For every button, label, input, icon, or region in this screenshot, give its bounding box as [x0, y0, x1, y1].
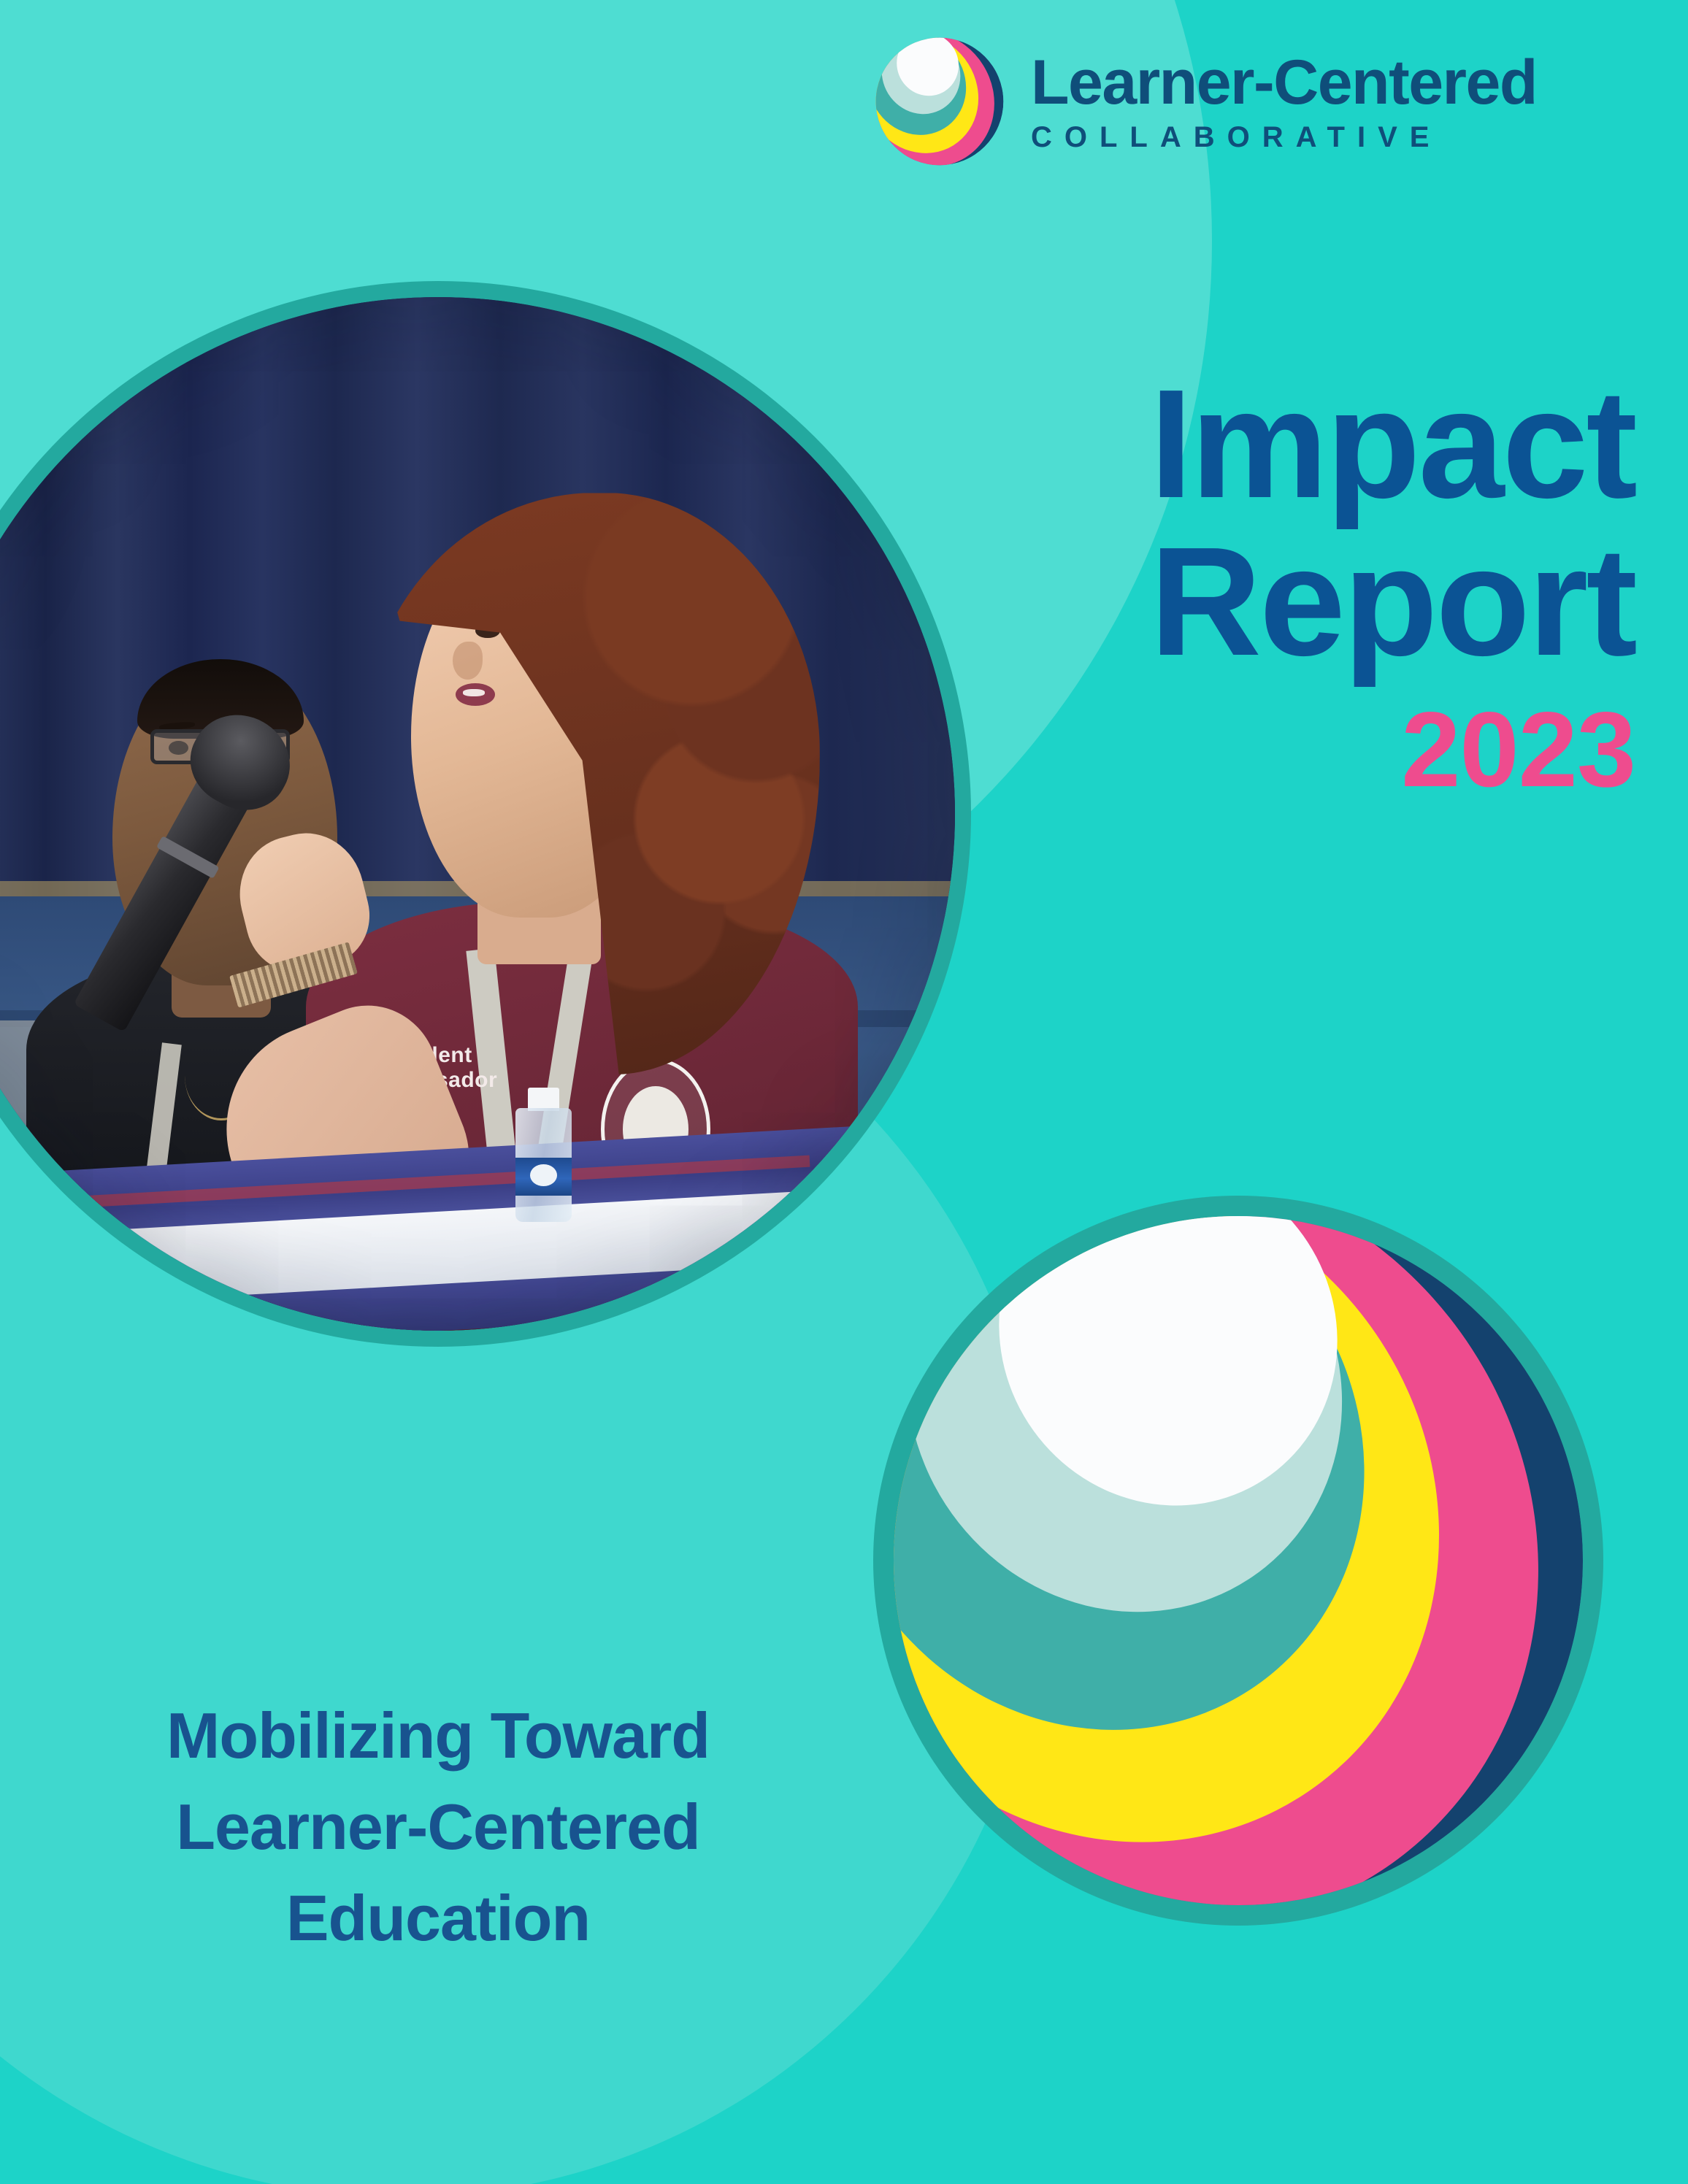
title-line-report: Report: [862, 523, 1635, 680]
hero-photo: udent assador: [0, 297, 955, 1331]
water-bottle-right: [515, 1088, 571, 1222]
brand-tagline: COLLABORATIVE: [1031, 123, 1537, 152]
report-cover-page: Learner-Centered COLLABORATIVE: [0, 0, 1688, 2184]
bottle-label: [515, 1158, 571, 1196]
report-year: 2023: [862, 696, 1635, 803]
layered-sphere-icon: [873, 35, 1006, 168]
person-b-teeth: [463, 689, 485, 696]
bottle-cap: [528, 1088, 559, 1110]
brand-name: Learner-Centered: [1031, 51, 1537, 114]
subtitle-line-3: Education: [51, 1873, 825, 1964]
layered-sphere-icon-large: [859, 1181, 1618, 1940]
subtitle-line-2: Learner-Centered: [51, 1782, 825, 1873]
subtitle-line-1: Mobilizing Toward: [51, 1691, 825, 1782]
hero-photo-ring: udent assador: [0, 281, 971, 1347]
brand-logo: Learner-Centered COLLABORATIVE: [873, 35, 1537, 168]
brand-logo-text: Learner-Centered COLLABORATIVE: [1031, 51, 1537, 152]
person-b-nose: [453, 642, 483, 680]
cover-subtitle: Mobilizing Toward Learner-Centered Educa…: [51, 1691, 825, 1964]
hero-photo-scene: udent assador: [0, 297, 955, 1331]
page-title: Impact Report 2023: [862, 365, 1635, 803]
title-line-impact: Impact: [862, 365, 1635, 523]
microphone-band: [156, 835, 220, 878]
